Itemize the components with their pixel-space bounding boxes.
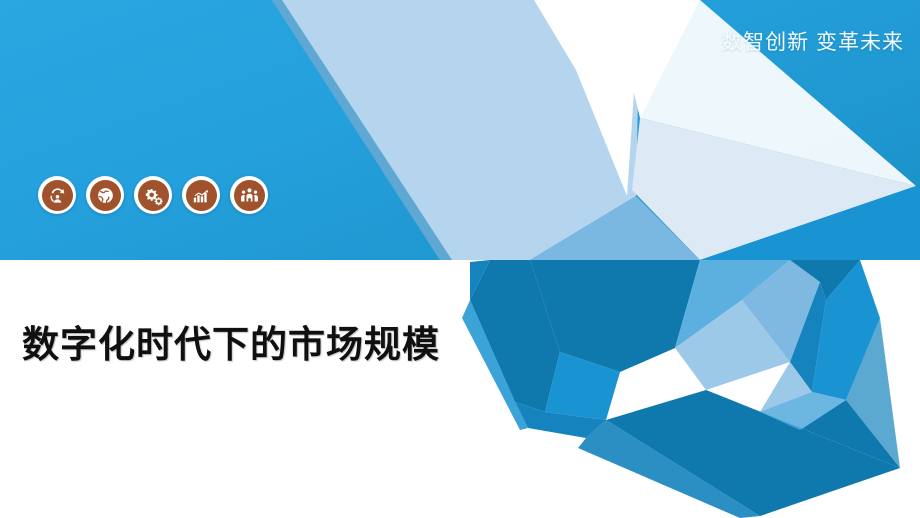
people-group-icon <box>234 180 265 211</box>
feature-icon-strip <box>38 176 268 214</box>
icon-badge-people-group[interactable] <box>230 176 268 214</box>
slide-subtitle: 数智创新 变革未来 <box>721 28 904 58</box>
slide-canvas: 数智创新 变革未来 <box>0 0 920 518</box>
icon-badge-bar-chart-growth[interactable] <box>182 176 220 214</box>
lowpoly-background-art <box>0 0 920 518</box>
globe-icon <box>90 180 121 211</box>
icon-badge-recycle-person[interactable] <box>38 176 76 214</box>
icon-badge-gears[interactable] <box>134 176 172 214</box>
gears-icon <box>138 180 169 211</box>
recycle-person-icon <box>42 180 73 211</box>
icon-badge-globe[interactable] <box>86 176 124 214</box>
bar-chart-growth-icon <box>186 180 217 211</box>
slide-title: 数字化时代下的市场规模 <box>22 321 440 369</box>
